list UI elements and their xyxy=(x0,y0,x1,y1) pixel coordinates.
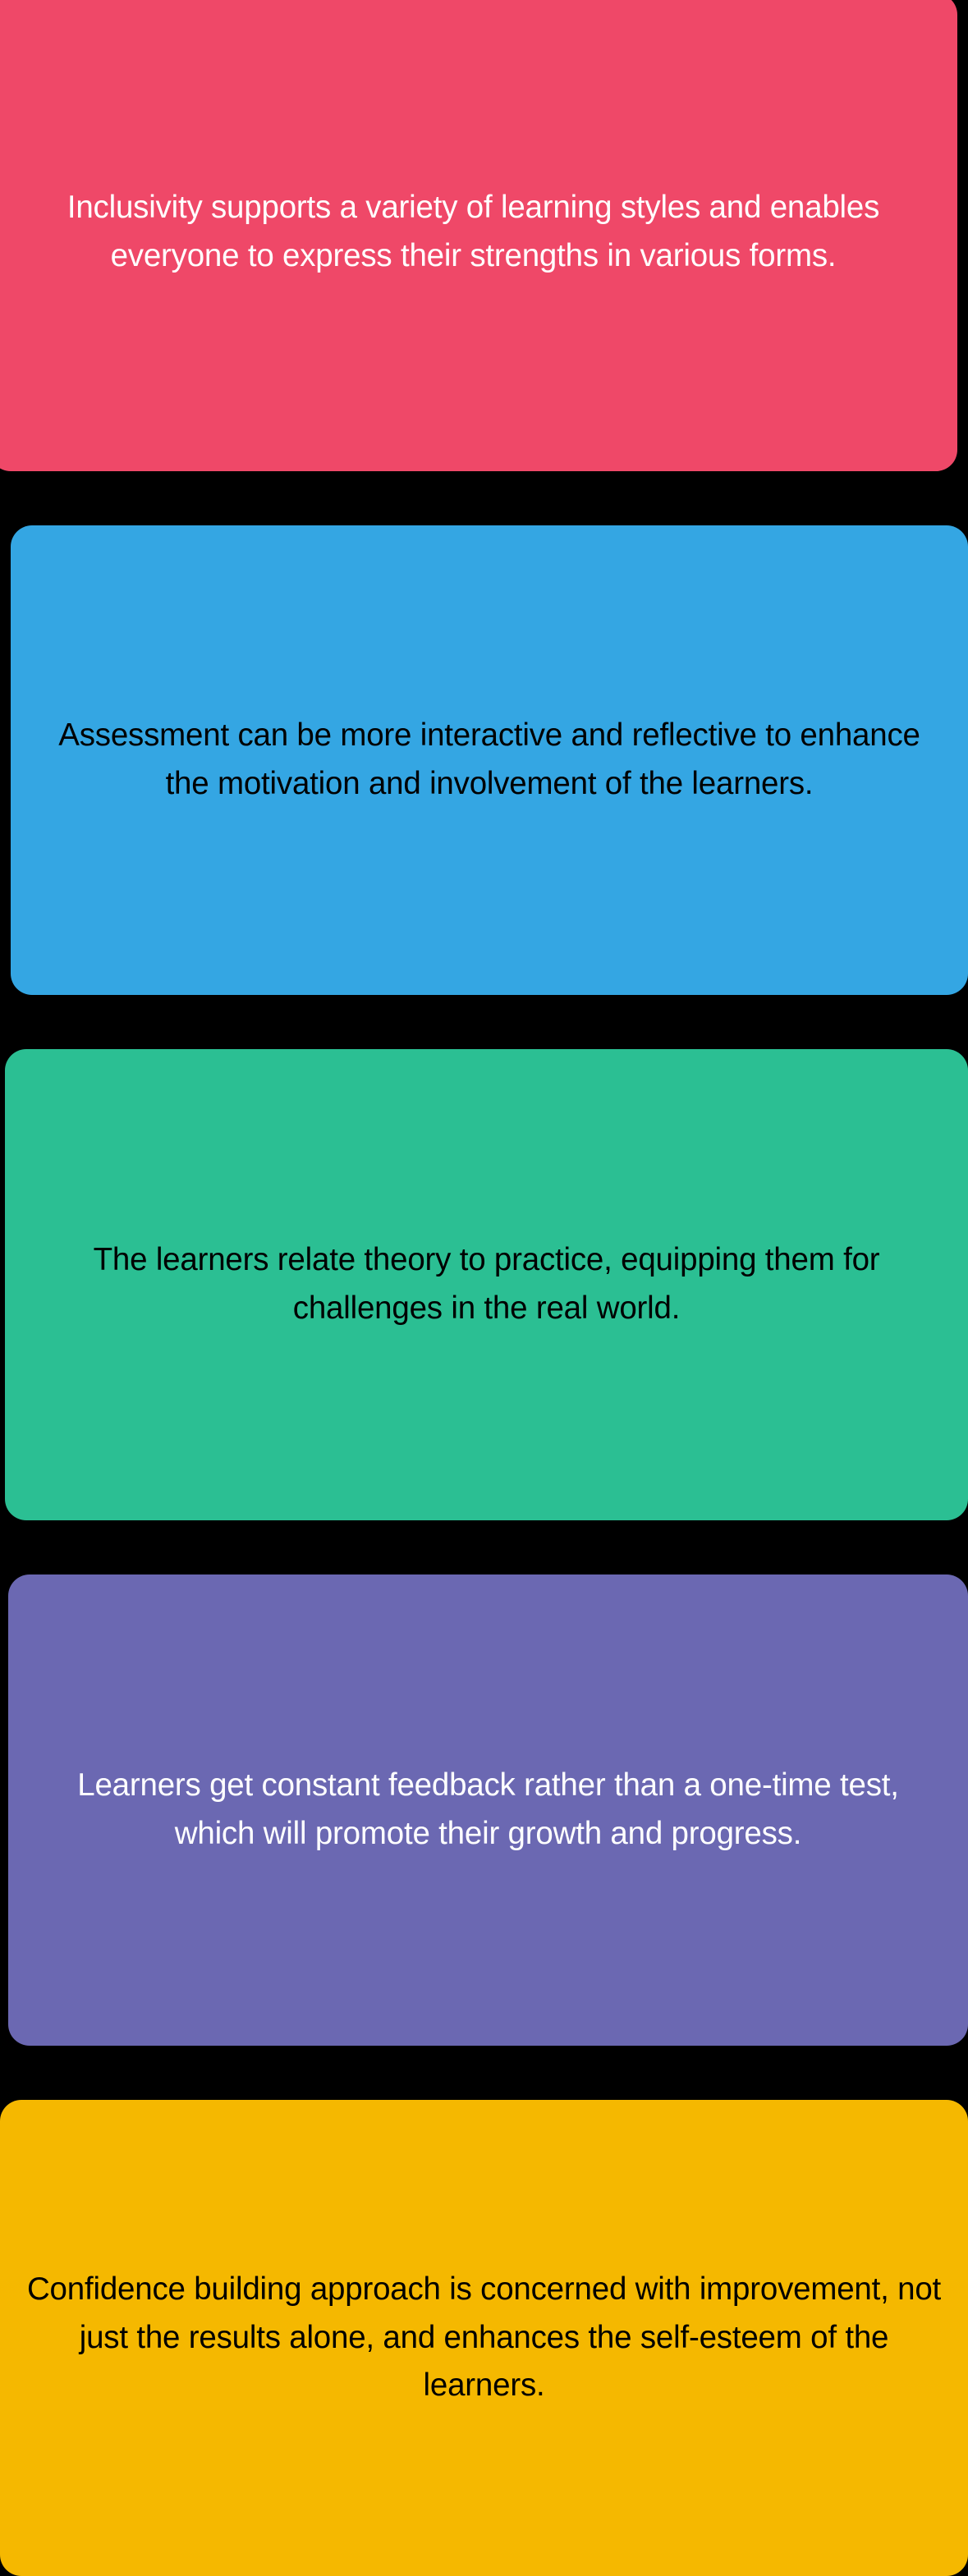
card-text: Inclusivity supports a variety of learni… xyxy=(0,184,957,280)
cards-stack: Inclusivity supports a variety of learni… xyxy=(0,0,968,2569)
card-inclusivity[interactable]: Inclusivity supports a variety of learni… xyxy=(0,0,957,471)
card-assessment[interactable]: Assessment can be more interactive and r… xyxy=(11,525,968,995)
card-text: Confidence building approach is concerne… xyxy=(0,2266,968,2410)
card-confidence-building[interactable]: Confidence building approach is concerne… xyxy=(0,2100,968,2576)
card-text: Assessment can be more interactive and r… xyxy=(11,712,968,808)
card-theory-to-practice[interactable]: The learners relate theory to practice, … xyxy=(5,1049,968,1520)
card-text: Learners get constant feedback rather th… xyxy=(8,1762,968,1858)
card-text: The learners relate theory to practice, … xyxy=(5,1236,968,1332)
card-constant-feedback[interactable]: Learners get constant feedback rather th… xyxy=(8,1574,968,2046)
